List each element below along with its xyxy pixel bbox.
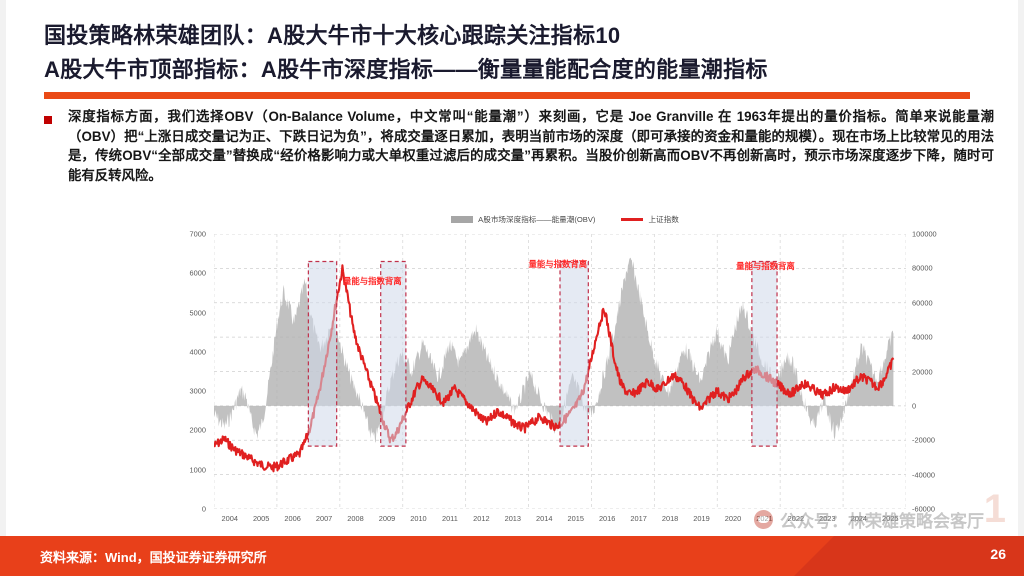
body-paragraph-text: 深度指标方面，我们选择OBV（On-Balance Volume，中文常叫“能量… — [68, 107, 994, 185]
x-tick: 2005 — [253, 514, 269, 523]
y-tick-right: 60000 — [912, 298, 933, 307]
x-tick: 2016 — [599, 514, 615, 523]
x-tick: 2020 — [725, 514, 741, 523]
x-tick: 2009 — [379, 514, 395, 523]
x-tick: 2006 — [284, 514, 300, 523]
x-tick: 2019 — [693, 514, 709, 523]
legend-item-obv: A股市场深度指标——能量潮(OBV) — [451, 214, 595, 225]
y-tick-left: 7000 — [190, 230, 206, 239]
x-tick: 2018 — [662, 514, 678, 523]
slide-footer: 资料来源：Wind，国投证券证券研究所 26 — [0, 536, 1024, 576]
x-tick: 2007 — [316, 514, 332, 523]
y-tick-right: 20000 — [912, 367, 933, 376]
source-note: 资料来源：Wind，国投证券证券研究所 — [40, 547, 267, 566]
legend-label-index: 上证指数 — [648, 214, 678, 225]
page-title-line1: 国投策略林荣雄团队：A股大牛市十大核心跟踪关注指标10 — [44, 18, 620, 50]
chart-canvas — [214, 234, 906, 509]
x-tick: 2010 — [410, 514, 426, 523]
y-tick-left: 0 — [202, 505, 206, 514]
chart-plot-area: 01000200030004000500060007000 -60000-400… — [170, 234, 960, 532]
x-tick: 2013 — [505, 514, 521, 523]
legend-label-obv: A股市场深度指标——能量潮(OBV) — [478, 214, 595, 225]
y-tick-left: 2000 — [190, 426, 206, 435]
bullet-marker-icon — [44, 116, 52, 124]
watermark-text: 公众号：林荣雄策略会客厅 — [780, 507, 984, 532]
chart-annotation-label: 量能与指数背离 — [529, 258, 588, 270]
y-tick-right: -40000 — [912, 470, 935, 479]
y-tick-left: 5000 — [190, 308, 206, 317]
y-axis-left: 01000200030004000500060007000 — [170, 234, 210, 509]
y-axis-right: -60000-40000-200000200004000060000800001… — [906, 234, 960, 509]
y-tick-left: 4000 — [190, 347, 206, 356]
y-tick-right: 0 — [912, 401, 916, 410]
x-tick: 2017 — [630, 514, 646, 523]
slide-header: 国投策略林荣雄团队：A股大牛市十大核心跟踪关注指标10 A股大牛市顶部指标：A股… — [0, 6, 1024, 92]
y-tick-left: 3000 — [190, 387, 206, 396]
chart-annotation-label: 量能与指数背离 — [343, 275, 402, 287]
page-number: 26 — [990, 546, 1006, 562]
chart-legend: A股市场深度指标——能量潮(OBV) 上证指数 — [170, 210, 960, 228]
slide-root: 国投策略林荣雄团队：A股大牛市十大核心跟踪关注指标10 A股大牛市顶部指标：A股… — [0, 0, 1024, 576]
legend-swatch-line-icon — [621, 218, 643, 221]
page-title-line2: A股大牛市顶部指标：A股牛市深度指标——衡量量能配合度的能量潮指标 — [44, 52, 768, 84]
y-tick-right: 100000 — [912, 230, 937, 239]
chart-svg — [214, 234, 906, 509]
x-tick: 2014 — [536, 514, 552, 523]
legend-swatch-area-icon — [451, 216, 473, 223]
x-tick: 2015 — [567, 514, 583, 523]
y-tick-right: 40000 — [912, 333, 933, 342]
wechat-badge-icon — [754, 510, 773, 529]
x-tick: 2011 — [442, 514, 458, 523]
title-underline — [44, 92, 970, 99]
y-tick-left: 1000 — [190, 465, 206, 474]
y-tick-left: 6000 — [190, 269, 206, 278]
chart-container: A股市场深度指标——能量潮(OBV) 上证指数 0100020003000400… — [170, 210, 960, 532]
y-tick-right: 80000 — [912, 264, 933, 273]
x-tick: 2012 — [473, 514, 489, 523]
y-tick-right: -20000 — [912, 436, 935, 445]
x-tick: 2004 — [221, 514, 237, 523]
body-paragraph-block: 深度指标方面，我们选择OBV（On-Balance Volume，中文常叫“能量… — [44, 107, 994, 185]
chart-annotation-label: 量能与指数背离 — [736, 260, 795, 272]
watermark: 公众号：林荣雄策略会客厅 — [754, 507, 984, 532]
x-tick: 2008 — [347, 514, 363, 523]
legend-item-index: 上证指数 — [621, 214, 678, 225]
watermark-ghost-number: 1 — [984, 487, 1006, 532]
